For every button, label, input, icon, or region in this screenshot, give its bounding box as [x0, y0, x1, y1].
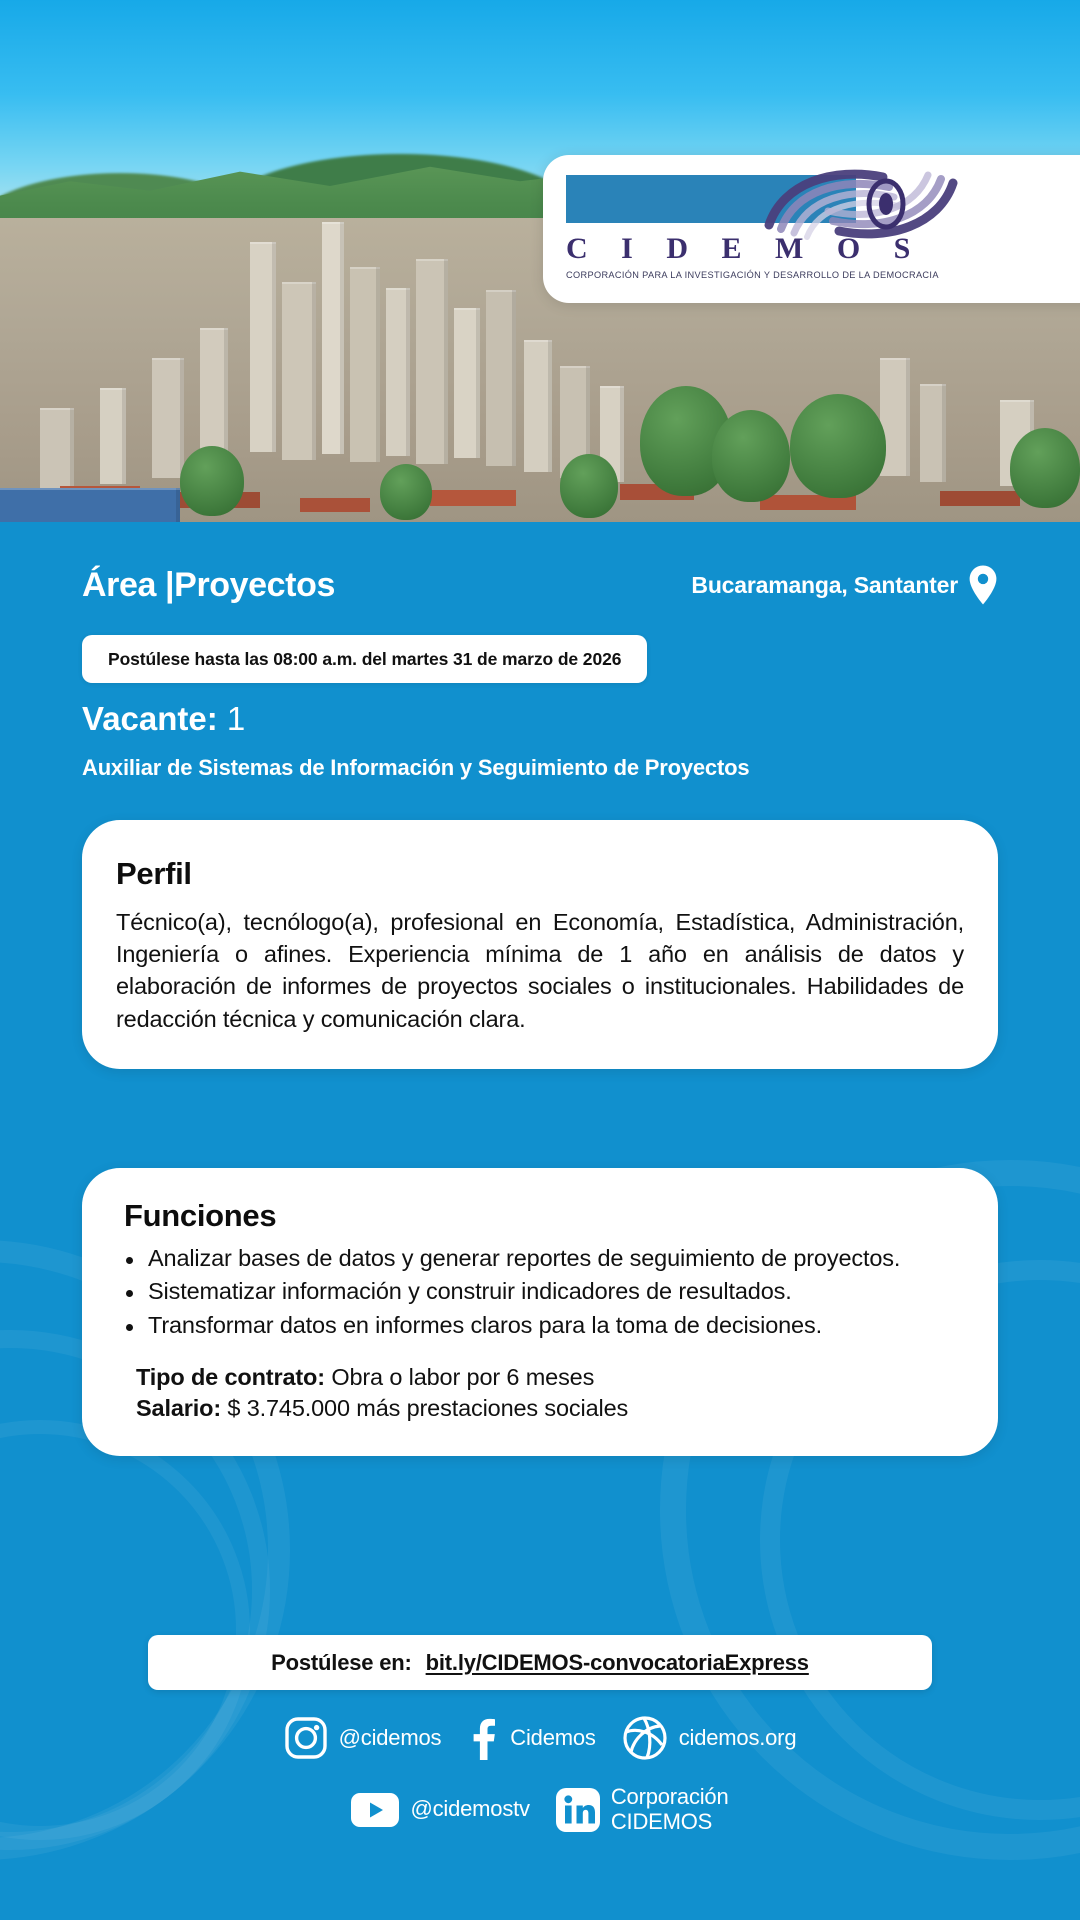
facebook-handle: Cidemos: [510, 1726, 595, 1751]
job-title: Auxiliar de Sistemas de Información y Se…: [82, 755, 749, 781]
social-website[interactable]: cidemos.org: [622, 1715, 797, 1761]
decorative-swirl: [0, 1420, 250, 1840]
contract-value: Obra o labor por 6 meses: [331, 1364, 594, 1390]
instagram-icon[interactable]: [284, 1716, 328, 1760]
apply-bar[interactable]: Postúlese en: bit.ly/CIDEMOS-convocatori…: [148, 1635, 932, 1690]
instagram-handle: @cidemos: [339, 1726, 442, 1751]
perfil-heading: Perfil: [116, 856, 964, 892]
salary-label: Salario:: [136, 1395, 221, 1421]
linkedin-handle: Corporación CIDEMOS: [611, 1785, 729, 1834]
perfil-body: Técnico(a), tecnólogo(a), profesional en…: [116, 906, 964, 1035]
social-row-primary: @cidemos Cidemos cidemos.org: [0, 1715, 1080, 1761]
social-youtube[interactable]: @cidemostv: [351, 1793, 529, 1827]
apply-url-link[interactable]: bit.ly/CIDEMOS-convocatoriaExpress: [426, 1650, 809, 1676]
contract-meta: Tipo de contrato: Obra o labor por 6 mes…: [136, 1362, 966, 1424]
vacancy-count-line: Vacante: 1: [82, 700, 245, 738]
cidemos-logo-card: C I D E M O S CORPORACIÓN PARA LA INVEST…: [543, 155, 1080, 303]
vacancy-count: 1: [227, 700, 245, 737]
logo-blue-bar: [566, 175, 856, 223]
social-linkedin[interactable]: Corporación CIDEMOS: [556, 1785, 729, 1834]
youtube-icon[interactable]: [351, 1793, 399, 1827]
area-label: Área |: [82, 566, 174, 604]
list-item: Sistematizar información y construir ind…: [118, 1277, 966, 1306]
salary-line: Salario: $ 3.745.000 más prestaciones so…: [136, 1393, 966, 1424]
logo-tagline: CORPORACIÓN PARA LA INVESTIGACIÓN Y DESA…: [566, 270, 1066, 280]
social-row-secondary: @cidemostv Corporación CIDEMOS: [0, 1785, 1080, 1834]
website-handle: cidemos.org: [679, 1726, 797, 1751]
linkedin-icon[interactable]: [556, 1788, 600, 1832]
youtube-handle: @cidemostv: [410, 1797, 529, 1822]
funciones-list: Analizar bases de datos y generar report…: [118, 1244, 966, 1340]
area-title: Área |Proyectos: [82, 566, 335, 605]
deadline-banner: Postúlese hasta las 08:00 a.m. del marte…: [82, 635, 647, 683]
job-posting-poster: C I D E M O S CORPORACIÓN PARA LA INVEST…: [0, 0, 1080, 1920]
area-value: Proyectos: [174, 566, 335, 604]
social-facebook[interactable]: Cidemos: [467, 1716, 595, 1760]
funciones-heading: Funciones: [124, 1198, 966, 1234]
location-block: Bucaramanga, Santanter: [691, 564, 998, 606]
vacancy-label: Vacante:: [82, 700, 218, 737]
apply-label: Postúlese en:: [271, 1650, 411, 1676]
cidemos-swirl-icon: [761, 161, 961, 247]
map-pin-icon: [968, 564, 998, 606]
perfil-card: Perfil Técnico(a), tecnólogo(a), profesi…: [82, 820, 998, 1069]
globe-icon[interactable]: [622, 1715, 668, 1761]
facebook-icon[interactable]: [467, 1716, 499, 1760]
social-instagram[interactable]: @cidemos: [284, 1716, 442, 1760]
salary-value: $ 3.745.000 más prestaciones sociales: [227, 1395, 628, 1421]
area-location-row: Área |Proyectos Bucaramanga, Santanter: [0, 552, 1080, 618]
contract-line: Tipo de contrato: Obra o labor por 6 mes…: [136, 1362, 966, 1393]
list-item: Analizar bases de datos y generar report…: [118, 1244, 966, 1273]
location-text: Bucaramanga, Santanter: [691, 572, 958, 599]
deadline-text: Postúlese hasta las 08:00 a.m. del marte…: [108, 649, 621, 670]
list-item: Transformar datos en informes claros par…: [118, 1311, 966, 1340]
contract-label: Tipo de contrato:: [136, 1364, 325, 1390]
funciones-card: Funciones Analizar bases de datos y gene…: [82, 1168, 998, 1456]
